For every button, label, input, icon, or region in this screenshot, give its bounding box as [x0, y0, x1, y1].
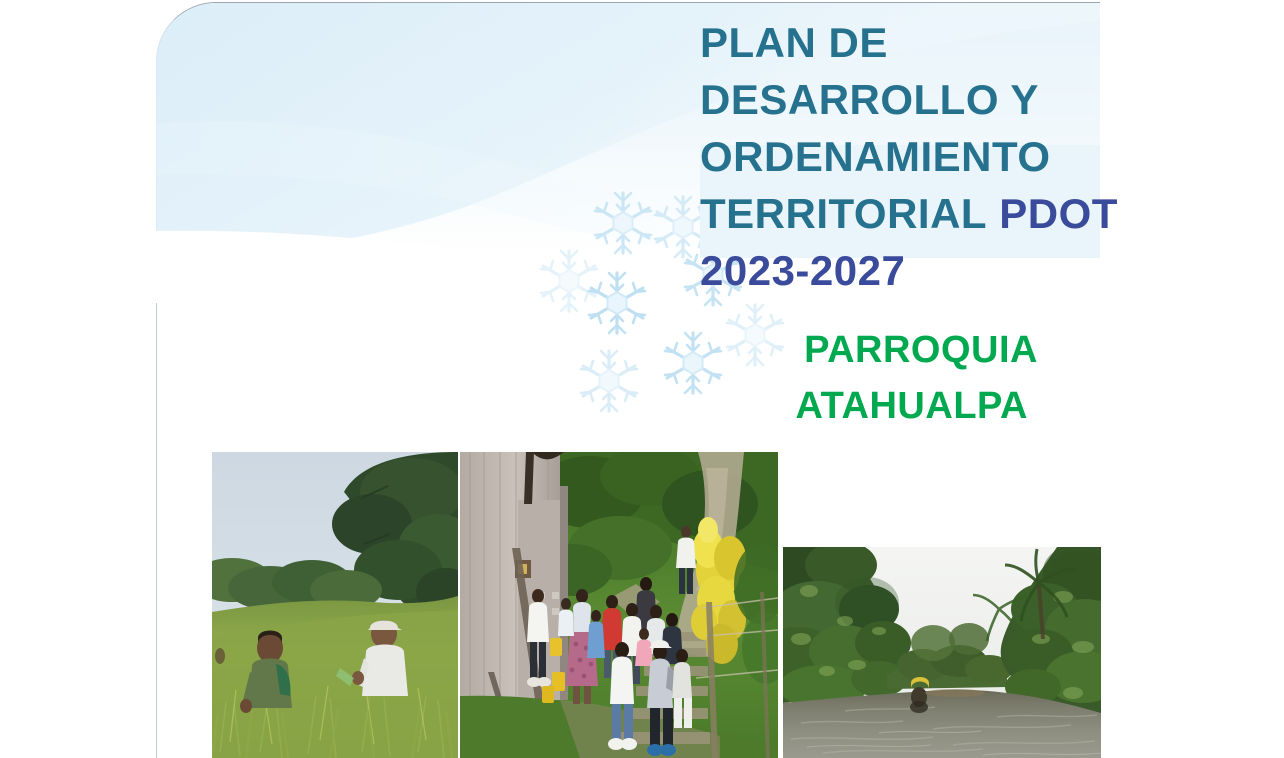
title-line-4: TERRITORIAL PDOT — [700, 185, 1100, 242]
photo-river-with-vegetation — [783, 547, 1101, 758]
title-line-2: DESARROLLO Y — [700, 71, 1100, 128]
title-line-5-period: 2023-2027 — [700, 242, 1100, 299]
title-acronym-pdot: PDOT — [999, 190, 1118, 237]
title-line-4-indigo — [987, 190, 999, 237]
photo-farmers-in-rice-field — [212, 452, 458, 758]
title-line-3: ORDENAMIENTO — [700, 128, 1100, 185]
title-line-4-teal: TERRITORIAL — [700, 190, 987, 237]
title-line-1: PLAN DE — [700, 14, 1100, 71]
photo-community-walking-path — [460, 452, 778, 758]
page-subtitle: PARROQUIA ATAHUALPA — [700, 322, 1100, 434]
subtitle-line-2: ATAHUALPA — [700, 378, 1038, 434]
page-title: PLAN DE DESARROLLO Y ORDENAMIENTO TERRIT… — [700, 14, 1100, 299]
document-cover-page: PLAN DE DESARROLLO Y ORDENAMIENTO TERRIT… — [0, 0, 1284, 758]
subtitle-line-1: PARROQUIA — [700, 322, 1038, 378]
